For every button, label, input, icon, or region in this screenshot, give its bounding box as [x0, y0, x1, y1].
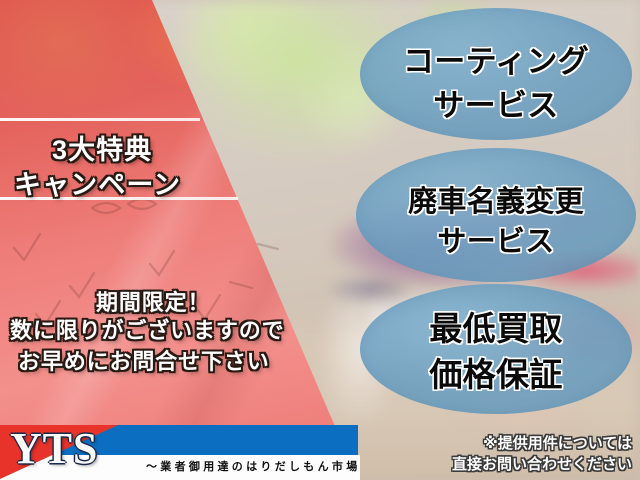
limited-notice-line3: お早めにお問合せ下さい	[18, 344, 270, 376]
service-2-label-line1: 廃車名義変更	[356, 178, 636, 220]
logo-tagline: 〜業者御用達のはりだしもん市場	[146, 458, 361, 474]
service-1-label-line1: コーティング	[360, 36, 632, 81]
logo-wordmark: YTS	[10, 423, 98, 474]
disclaimer-line1: ※提供用件については	[483, 432, 632, 453]
campaign-headline-line2: キャンペーン	[14, 163, 181, 202]
disclaimer-line2: 直接お問い合わせください	[452, 453, 632, 474]
limited-notice-line2: 数に限りがございますので	[10, 313, 285, 345]
campaign-headline-line1: 3大特典	[52, 128, 152, 167]
service-2-label-line2: サービス	[356, 218, 636, 260]
service-3-label-line1: 最低買取	[360, 302, 632, 350]
service-3-label-line2: 価格保証	[360, 348, 632, 396]
logo-bar: YTS 〜業者御用達のはりだしもん市場	[0, 425, 360, 480]
promo-banner: 3大特典 キャンペーン 期間限定！ 数に限りがございますので お早めにお問合せ下…	[0, 0, 640, 480]
divider-line-top	[0, 118, 200, 121]
service-1-label-line2: サービス	[360, 80, 632, 125]
